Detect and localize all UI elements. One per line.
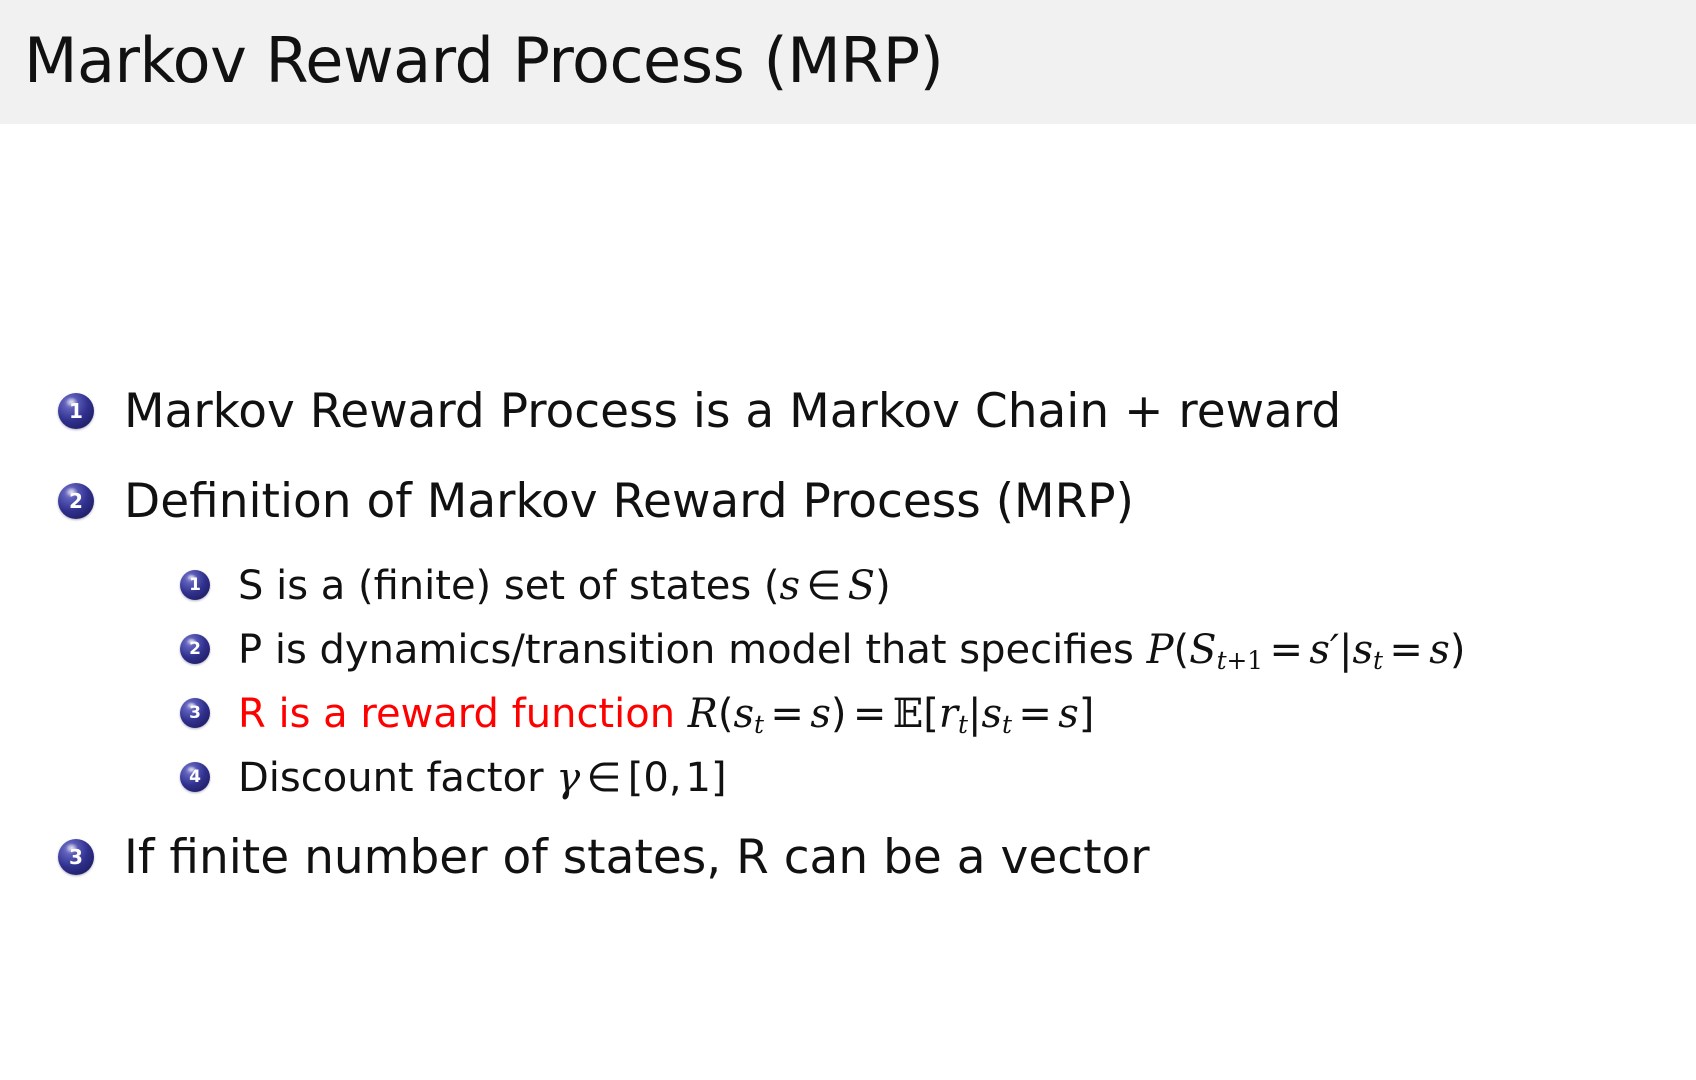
page-title: Markov Reward Process (MRP) xyxy=(24,30,943,92)
outline-sublist: 1 S is a (finite) set of states (s∈S) 2 … xyxy=(180,556,1678,808)
sub-list-item-text: R is a reward function R(st=s)=𝔼[rt|st=s… xyxy=(238,684,1094,744)
bullet-marker-wrap: 2 xyxy=(180,620,238,664)
bullet-number: 2 xyxy=(58,483,94,519)
numbered-bullet-icon: 1 xyxy=(58,393,94,429)
list-item-text: Definition of Markov Reward Process (MRP… xyxy=(124,466,1134,538)
sub-item-math: R(st=s)=𝔼[rt|st=s] xyxy=(675,691,1094,737)
list-item: 3 If finite number of states, R can be a… xyxy=(58,822,1678,894)
sub-list-item-text: P is dynamics/transition model that spec… xyxy=(238,620,1465,680)
numbered-bullet-icon: 3 xyxy=(58,839,94,875)
list-item: 2 Definition of Markov Reward Process (M… xyxy=(58,466,1678,538)
bullet-marker-wrap: 3 xyxy=(58,822,124,875)
bullet-number: 2 xyxy=(180,634,210,664)
outline-list: 1 Markov Reward Process is a Markov Chai… xyxy=(58,376,1678,912)
bullet-number: 3 xyxy=(180,698,210,728)
sub-list-item-text: S is a (finite) set of states (s∈S) xyxy=(238,556,891,616)
bullet-marker-wrap: 1 xyxy=(180,556,238,600)
bullet-marker-wrap: 2 xyxy=(58,466,124,519)
bullet-marker-wrap: 1 xyxy=(58,376,124,429)
list-item: 1 Markov Reward Process is a Markov Chai… xyxy=(58,376,1678,448)
sub-item-prose: Discount factor xyxy=(238,755,544,801)
list-item-text: If finite number of states, R can be a v… xyxy=(124,822,1150,894)
slide-header: Markov Reward Process (MRP) xyxy=(0,0,1696,124)
slide-body: 1 Markov Reward Process is a Markov Chai… xyxy=(0,124,1696,1080)
sub-item-prose: P is dynamics/transition model that spec… xyxy=(238,627,1134,673)
bullet-number: 1 xyxy=(58,393,94,429)
sub-list-item: 4 Discount factor γ∈[0, 1] xyxy=(180,748,1678,808)
numbered-bullet-icon: 2 xyxy=(180,634,210,664)
bullet-number: 3 xyxy=(58,839,94,875)
sub-list-item: 3 R is a reward function R(st=s)=𝔼[rt|st… xyxy=(180,684,1678,744)
numbered-bullet-icon: 3 xyxy=(180,698,210,728)
sub-item-math: P(St+1=s′|st=s) xyxy=(1134,627,1466,673)
numbered-bullet-icon: 2 xyxy=(58,483,94,519)
bullet-number: 4 xyxy=(180,762,210,792)
sub-item-math: γ∈[0, 1] xyxy=(544,755,727,801)
list-item-text: Markov Reward Process is a Markov Chain … xyxy=(124,376,1341,448)
sub-list-item-text: Discount factor γ∈[0, 1] xyxy=(238,748,727,808)
sub-list-item: 2 P is dynamics/transition model that sp… xyxy=(180,620,1678,680)
bullet-marker-wrap: 4 xyxy=(180,748,238,792)
numbered-bullet-icon: 1 xyxy=(180,570,210,600)
numbered-bullet-icon: 4 xyxy=(180,762,210,792)
bullet-number: 1 xyxy=(180,570,210,600)
sub-item-math: (s∈S) xyxy=(751,563,891,609)
bullet-marker-wrap: 3 xyxy=(180,684,238,728)
sub-item-prose-highlighted: R is a reward function xyxy=(238,691,675,737)
sub-list-item: 1 S is a (finite) set of states (s∈S) xyxy=(180,556,1678,616)
sub-item-prose: S is a (finite) set of states xyxy=(238,563,751,609)
